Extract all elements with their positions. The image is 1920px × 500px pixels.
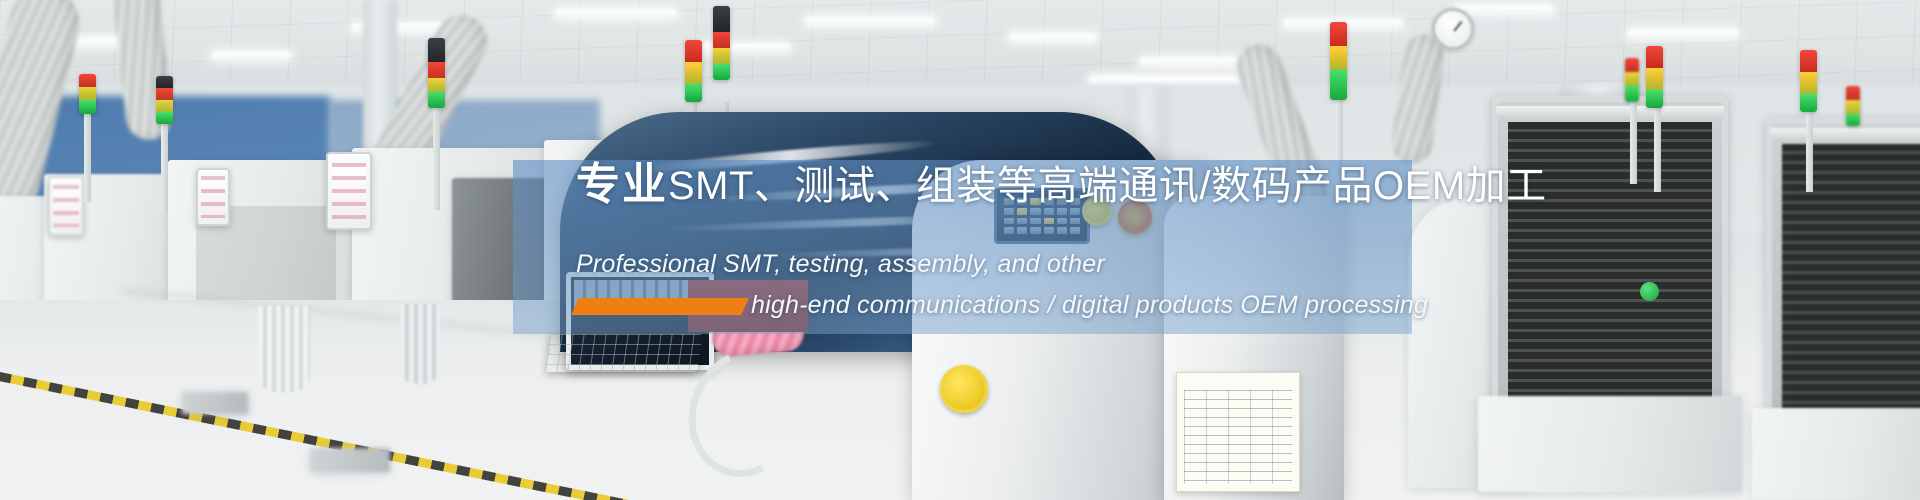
rack-top-rail bbox=[1770, 128, 1920, 140]
andon-tower-light bbox=[1846, 86, 1860, 126]
ceiling-light bbox=[212, 52, 290, 59]
pcb-magazine-rack bbox=[1492, 96, 1728, 406]
page-title: 专业SMT、测试、组装等高端通讯/数码产品OEM加工 bbox=[576, 163, 1547, 207]
subtitle-line-2: high-end communications / digital produc… bbox=[751, 291, 1428, 320]
tower-light-yellow bbox=[713, 48, 730, 64]
tower-light-green bbox=[1846, 114, 1860, 126]
ceiling-light bbox=[806, 18, 934, 25]
rack-indicator-dot bbox=[1640, 282, 1659, 301]
rack-base bbox=[1752, 408, 1920, 500]
tower-light-yellow bbox=[1646, 68, 1663, 90]
andon-tower-light bbox=[79, 74, 96, 114]
andon-tower-light bbox=[156, 76, 173, 124]
ceiling-light bbox=[1456, 6, 1552, 13]
light-pole bbox=[1654, 104, 1661, 192]
floor-tray bbox=[310, 448, 390, 472]
tower-light-yellow bbox=[79, 87, 96, 100]
ceiling-light bbox=[1140, 58, 1242, 65]
rack-base bbox=[1478, 396, 1742, 492]
andon-tower-light bbox=[428, 38, 445, 108]
cable-bundle bbox=[258, 306, 310, 392]
tower-light-green bbox=[156, 112, 173, 124]
floor-tray bbox=[182, 392, 248, 414]
tower-light-green bbox=[1646, 90, 1663, 108]
tower-light-red bbox=[1646, 46, 1663, 68]
tower-light-red bbox=[79, 74, 96, 87]
light-pole bbox=[1806, 108, 1813, 192]
andon-tower-light bbox=[1625, 58, 1639, 102]
hmi-touch-panel bbox=[326, 152, 372, 230]
andon-tower-light bbox=[685, 40, 702, 102]
tower-light-green bbox=[79, 100, 96, 114]
operator-keyboard[interactable] bbox=[545, 334, 702, 372]
hmi-touch-panel bbox=[196, 168, 230, 226]
tower-light-green bbox=[1625, 86, 1639, 102]
andon-tower-light bbox=[1800, 50, 1817, 112]
tower-light-red bbox=[685, 40, 702, 62]
tower-light-green bbox=[713, 64, 730, 80]
cable-bundle bbox=[400, 304, 440, 384]
andon-tower-light bbox=[713, 6, 730, 80]
tower-light-red bbox=[1625, 58, 1639, 72]
ceiling-light bbox=[556, 10, 676, 17]
headline-emphasis: 专业 bbox=[576, 160, 668, 209]
headline-rest: SMT、测试、组装等高端通讯/数码产品OEM加工 bbox=[668, 164, 1547, 208]
tower-light-yellow bbox=[1846, 100, 1860, 114]
accent-bar bbox=[571, 298, 749, 315]
floor-hazard-stripe bbox=[0, 364, 706, 500]
tower-light-green bbox=[1800, 94, 1817, 112]
tower-light-green bbox=[428, 92, 445, 108]
tower-light-yellow bbox=[156, 100, 173, 112]
rack-top-rail bbox=[1496, 106, 1724, 118]
tower-light-red bbox=[1846, 86, 1860, 100]
tower-light-green bbox=[685, 84, 702, 102]
tower-light-off bbox=[428, 38, 445, 62]
emergency-stop-button[interactable] bbox=[940, 365, 988, 413]
hero-banner: Rows of SMT pick-and-place machines, ref… bbox=[0, 0, 1920, 500]
subtitle-line-1: Professional SMT, testing, assembly, and… bbox=[576, 250, 1105, 279]
process-document bbox=[1176, 372, 1300, 492]
tower-light-yellow bbox=[428, 78, 445, 92]
light-pole bbox=[1630, 94, 1637, 184]
andon-tower-light bbox=[1646, 46, 1663, 108]
tower-light-off bbox=[156, 76, 173, 88]
tower-light-yellow bbox=[1330, 46, 1347, 70]
rack-pcb-slots bbox=[1782, 144, 1920, 410]
ceiling-light bbox=[1010, 34, 1096, 41]
tower-light-yellow bbox=[1625, 72, 1639, 86]
tower-light-red bbox=[713, 32, 730, 48]
tower-light-off bbox=[713, 6, 730, 32]
tower-light-red bbox=[428, 62, 445, 78]
tower-light-red bbox=[156, 88, 173, 100]
light-pole bbox=[433, 100, 440, 210]
tower-light-yellow bbox=[685, 62, 702, 84]
light-pole bbox=[161, 112, 168, 212]
headline-overlay-panel: 专业SMT、测试、组装等高端通讯/数码产品OEM加工 Professional … bbox=[513, 160, 1412, 334]
tower-light-red bbox=[1800, 50, 1817, 72]
document-lines bbox=[1184, 390, 1291, 484]
ceiling-light bbox=[1628, 30, 1738, 37]
pcb-magazine-rack bbox=[1766, 118, 1920, 418]
tower-light-yellow bbox=[1800, 72, 1817, 94]
tower-light-red bbox=[1330, 22, 1347, 46]
tower-light-green bbox=[1330, 70, 1347, 100]
hmi-touch-panel bbox=[48, 176, 84, 236]
andon-tower-light bbox=[1330, 22, 1347, 100]
